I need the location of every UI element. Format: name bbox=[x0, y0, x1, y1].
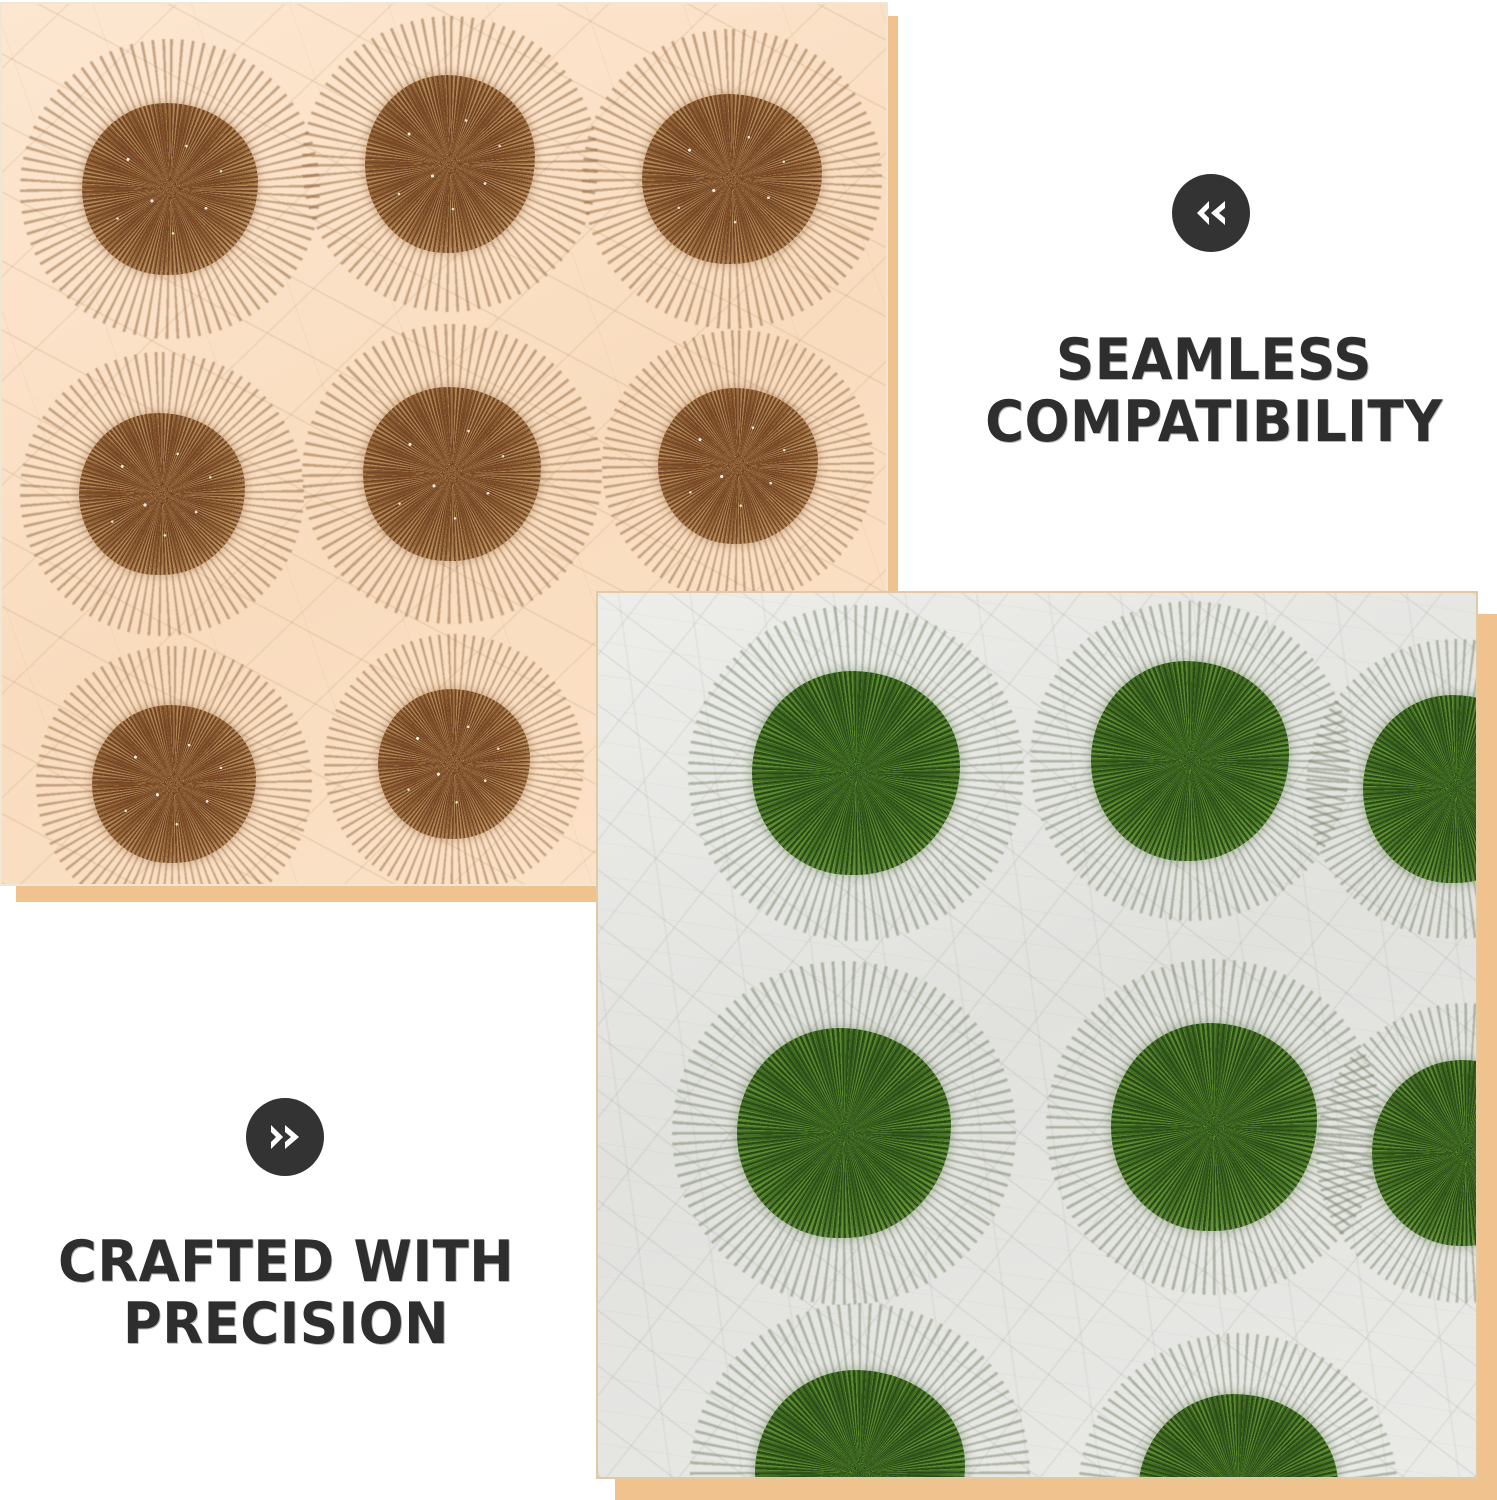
grass-tuft-green bbox=[1078, 1333, 1398, 1479]
grass-tuft-brown bbox=[302, 16, 598, 312]
grass-tuft-green bbox=[1030, 601, 1350, 921]
grass-tuft-brown bbox=[36, 646, 312, 886]
grass-tuft-green bbox=[1316, 1003, 1478, 1303]
caption-seamless-compatibility: SEAMLESS COMPATIBILITY bbox=[959, 330, 1469, 453]
grass-tuft-brown bbox=[324, 634, 584, 886]
grass-tuft-green bbox=[672, 961, 1016, 1305]
grass-tuft-brown bbox=[302, 324, 602, 624]
double-chevron-right-icon bbox=[263, 1122, 307, 1152]
grass-tuft-brown bbox=[20, 352, 304, 636]
grass-tuft-brown bbox=[582, 29, 882, 329]
grass-tuft-green bbox=[1306, 639, 1478, 939]
grass-tuft-brown bbox=[602, 330, 874, 602]
grass-tuft-green bbox=[690, 1303, 1030, 1479]
caption-line-1: CRAFTED WITH bbox=[31, 1232, 541, 1294]
caption-line-2: COMPATIBILITY bbox=[959, 392, 1469, 454]
grass-tuft-brown bbox=[20, 39, 320, 339]
double-chevron-right-badge[interactable] bbox=[246, 1098, 324, 1176]
collage-canvas: SEAMLESS COMPATIBILITY CRAFTED WITH PREC… bbox=[0, 0, 1497, 1500]
grass-tuft-green bbox=[688, 605, 1024, 941]
double-chevron-left-icon bbox=[1189, 198, 1233, 228]
caption-line-2: PRECISION bbox=[31, 1294, 541, 1356]
caption-crafted-with-precision: CRAFTED WITH PRECISION bbox=[31, 1232, 541, 1355]
double-chevron-left-badge[interactable] bbox=[1172, 174, 1250, 252]
green-tuft-photo-panel bbox=[596, 591, 1478, 1479]
caption-line-1: SEAMLESS bbox=[959, 330, 1469, 392]
